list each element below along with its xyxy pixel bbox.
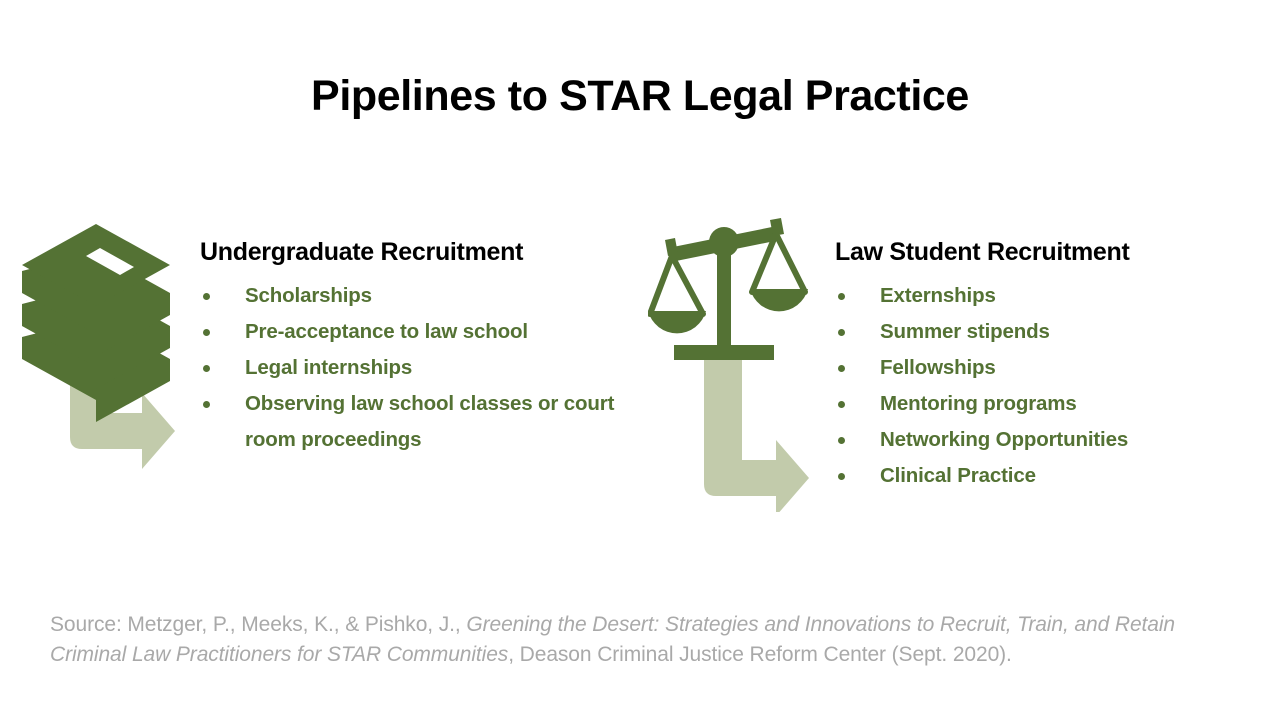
law-student-text-block: Law Student Recruitment Externships Summ… bbox=[835, 238, 1265, 494]
scales-of-justice-icon bbox=[648, 218, 808, 360]
list-item: Externships bbox=[835, 278, 1265, 314]
bullet-dot-icon bbox=[838, 473, 845, 480]
list-item: Mentoring programs bbox=[835, 386, 1265, 422]
bullet-dot-icon bbox=[203, 293, 210, 300]
scales-of-justice-graphic bbox=[648, 212, 823, 512]
source-suffix: , Deason Criminal Justice Reform Center … bbox=[508, 643, 1012, 666]
column-undergraduate: Undergraduate Recruitment Scholarships P… bbox=[14, 218, 654, 518]
list-item: Clinical Practice bbox=[835, 458, 1265, 494]
bullet-dot-icon bbox=[838, 401, 845, 408]
list-item: Observing law school classes or court ro… bbox=[200, 386, 650, 458]
list-item-label: Legal internships bbox=[245, 350, 650, 386]
column-heading-undergraduate: Undergraduate Recruitment bbox=[200, 238, 650, 267]
law-student-bullet-list: Externships Summer stipends Fellowships … bbox=[835, 278, 1265, 494]
list-item-label: Observing law school classes or court ro… bbox=[245, 386, 650, 458]
list-item-label: Clinical Practice bbox=[880, 458, 1265, 494]
list-item-label: Summer stipends bbox=[880, 314, 1265, 350]
slide-canvas: Pipelines to STAR Legal Practice bbox=[0, 0, 1280, 720]
list-item-label: Scholarships bbox=[245, 278, 650, 314]
bullet-dot-icon bbox=[838, 365, 845, 372]
list-item: Fellowships bbox=[835, 350, 1265, 386]
undergraduate-text-block: Undergraduate Recruitment Scholarships P… bbox=[200, 238, 650, 458]
bullet-dot-icon bbox=[838, 437, 845, 444]
list-item-label: Externships bbox=[880, 278, 1265, 314]
book-stack-graphic bbox=[14, 218, 184, 478]
list-item-label: Fellowships bbox=[880, 350, 1265, 386]
elbow-arrow-down-right-icon bbox=[704, 352, 809, 512]
list-item-label: Pre-acceptance to law school bbox=[245, 314, 650, 350]
source-prefix: Source: Metzger, P., Meeks, K., & Pishko… bbox=[50, 613, 466, 636]
list-item: Legal internships bbox=[200, 350, 650, 386]
list-item: Networking Opportunities bbox=[835, 422, 1265, 458]
list-item-label: Networking Opportunities bbox=[880, 422, 1265, 458]
bullet-dot-icon bbox=[203, 401, 210, 408]
page-title: Pipelines to STAR Legal Practice bbox=[0, 72, 1280, 121]
column-heading-law-student: Law Student Recruitment bbox=[835, 238, 1265, 267]
column-law-student: Law Student Recruitment Externships Summ… bbox=[648, 212, 1268, 512]
source-citation: Source: Metzger, P., Meeks, K., & Pishko… bbox=[50, 610, 1190, 670]
bullet-dot-icon bbox=[838, 293, 845, 300]
list-item-label: Mentoring programs bbox=[880, 386, 1265, 422]
bullet-dot-icon bbox=[203, 329, 210, 336]
book-stack-icon bbox=[22, 224, 170, 422]
undergraduate-bullet-list: Scholarships Pre-acceptance to law schoo… bbox=[200, 278, 650, 458]
bullet-dot-icon bbox=[838, 329, 845, 336]
list-item: Scholarships bbox=[200, 278, 650, 314]
list-item: Summer stipends bbox=[835, 314, 1265, 350]
list-item: Pre-acceptance to law school bbox=[200, 314, 650, 350]
bullet-dot-icon bbox=[203, 365, 210, 372]
